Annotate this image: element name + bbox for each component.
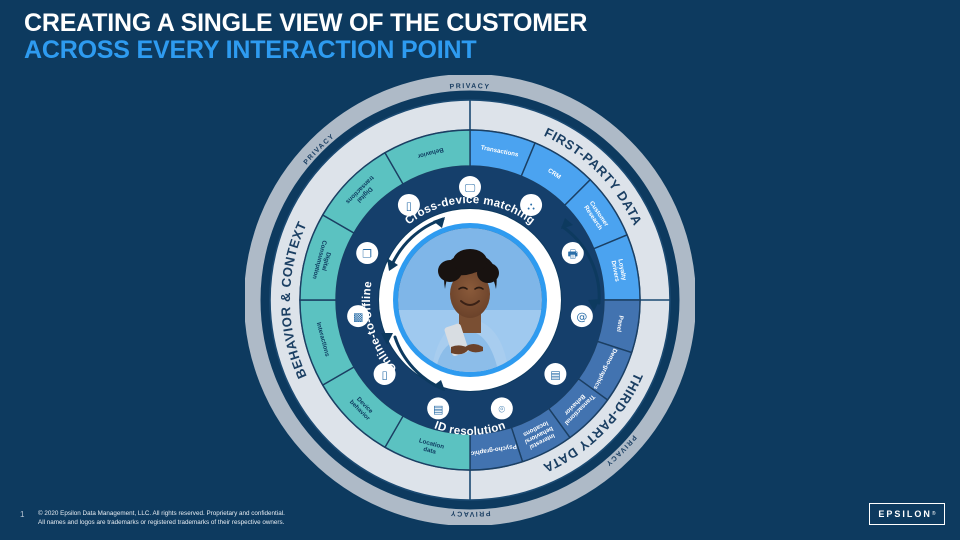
- page-title-line-1: CREATING A SINGLE VIEW OF THE CUSTOMER: [24, 10, 587, 37]
- epsilon-logo-text: EPSILON: [878, 509, 932, 519]
- customer-view-wheel-diagram: PRIVACY PRIVACY PRIVACY PRIVACY FIRST-PA…: [245, 75, 695, 525]
- epsilon-logo: EPSILON®: [869, 503, 945, 525]
- footer-copyright-line-1: © 2020 Epsilon Data Management, LLC. All…: [38, 509, 285, 518]
- footer-copyright: © 2020 Epsilon Data Management, LLC. All…: [38, 509, 285, 527]
- page-title-line-2: ACROSS EVERY INTERACTION POINT: [24, 37, 587, 64]
- title-block: CREATING A SINGLE VIEW OF THE CUSTOMER A…: [24, 10, 587, 64]
- registered-mark-icon: ®: [932, 511, 936, 517]
- page-number: 1: [20, 510, 24, 519]
- footer-copyright-line-2: All names and logos are trademarks or re…: [38, 518, 285, 527]
